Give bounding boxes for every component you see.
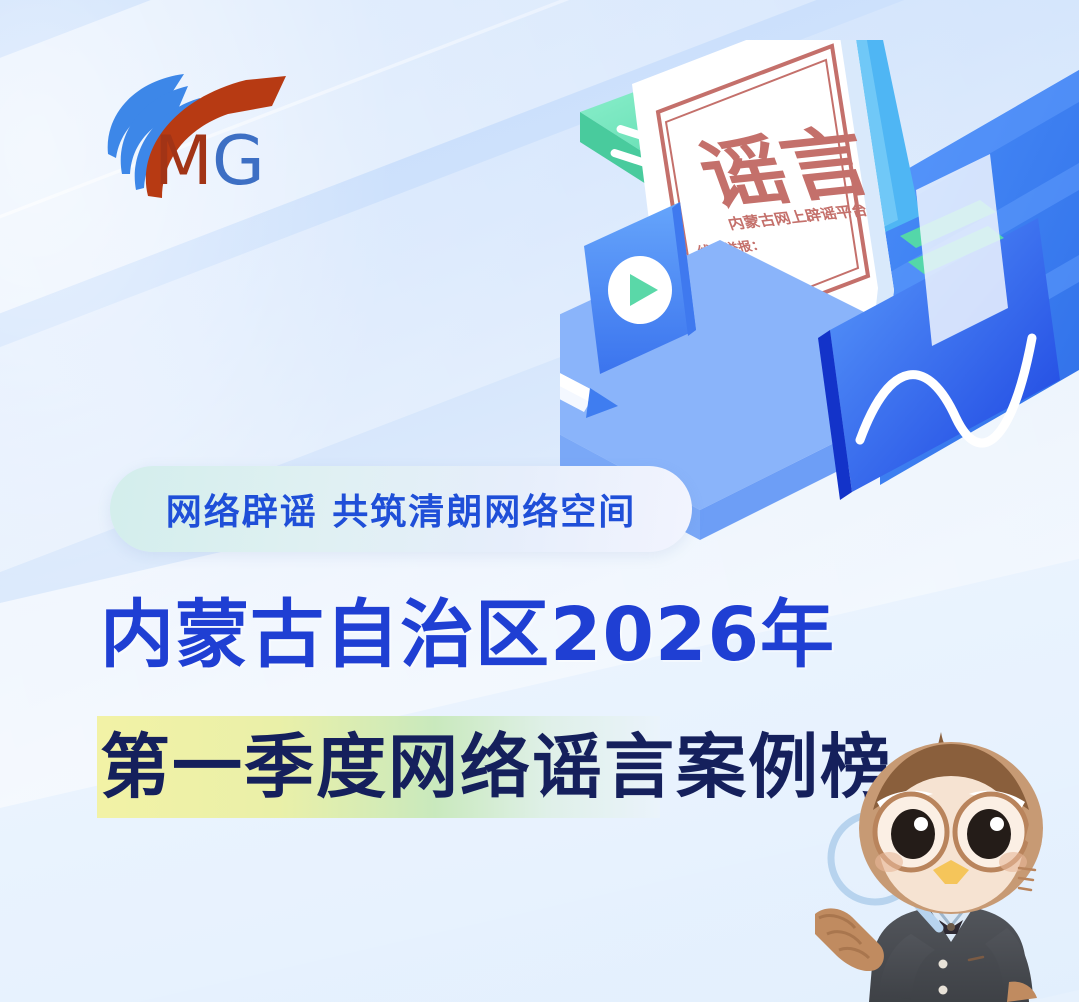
headline-line-2: 第一季度网络谣言案例榜: [100, 724, 892, 812]
slogan-badge: 网络辟谣 共筑清朗网络空间: [110, 466, 692, 552]
headline-line-1: 内蒙古自治区2026年: [100, 598, 835, 672]
eye-left: [891, 809, 935, 859]
mascot-head: [859, 732, 1043, 914]
mascot-hand: [815, 908, 884, 971]
slogan-text: 网络辟谣 共筑清朗网络空间: [166, 483, 637, 535]
eye-right: [967, 809, 1011, 859]
suit-button: [939, 960, 948, 969]
poster-root: 谣言 内蒙古网上辟谣平台 线索举报：: [0, 0, 1079, 1002]
suit-button: [939, 986, 948, 995]
logo-letter-m: M: [154, 122, 213, 201]
detective-owl-mascot: [793, 728, 1079, 1002]
brand-logo[interactable]: MG M G: [96, 62, 316, 212]
logo-letter-g: G: [212, 122, 265, 201]
